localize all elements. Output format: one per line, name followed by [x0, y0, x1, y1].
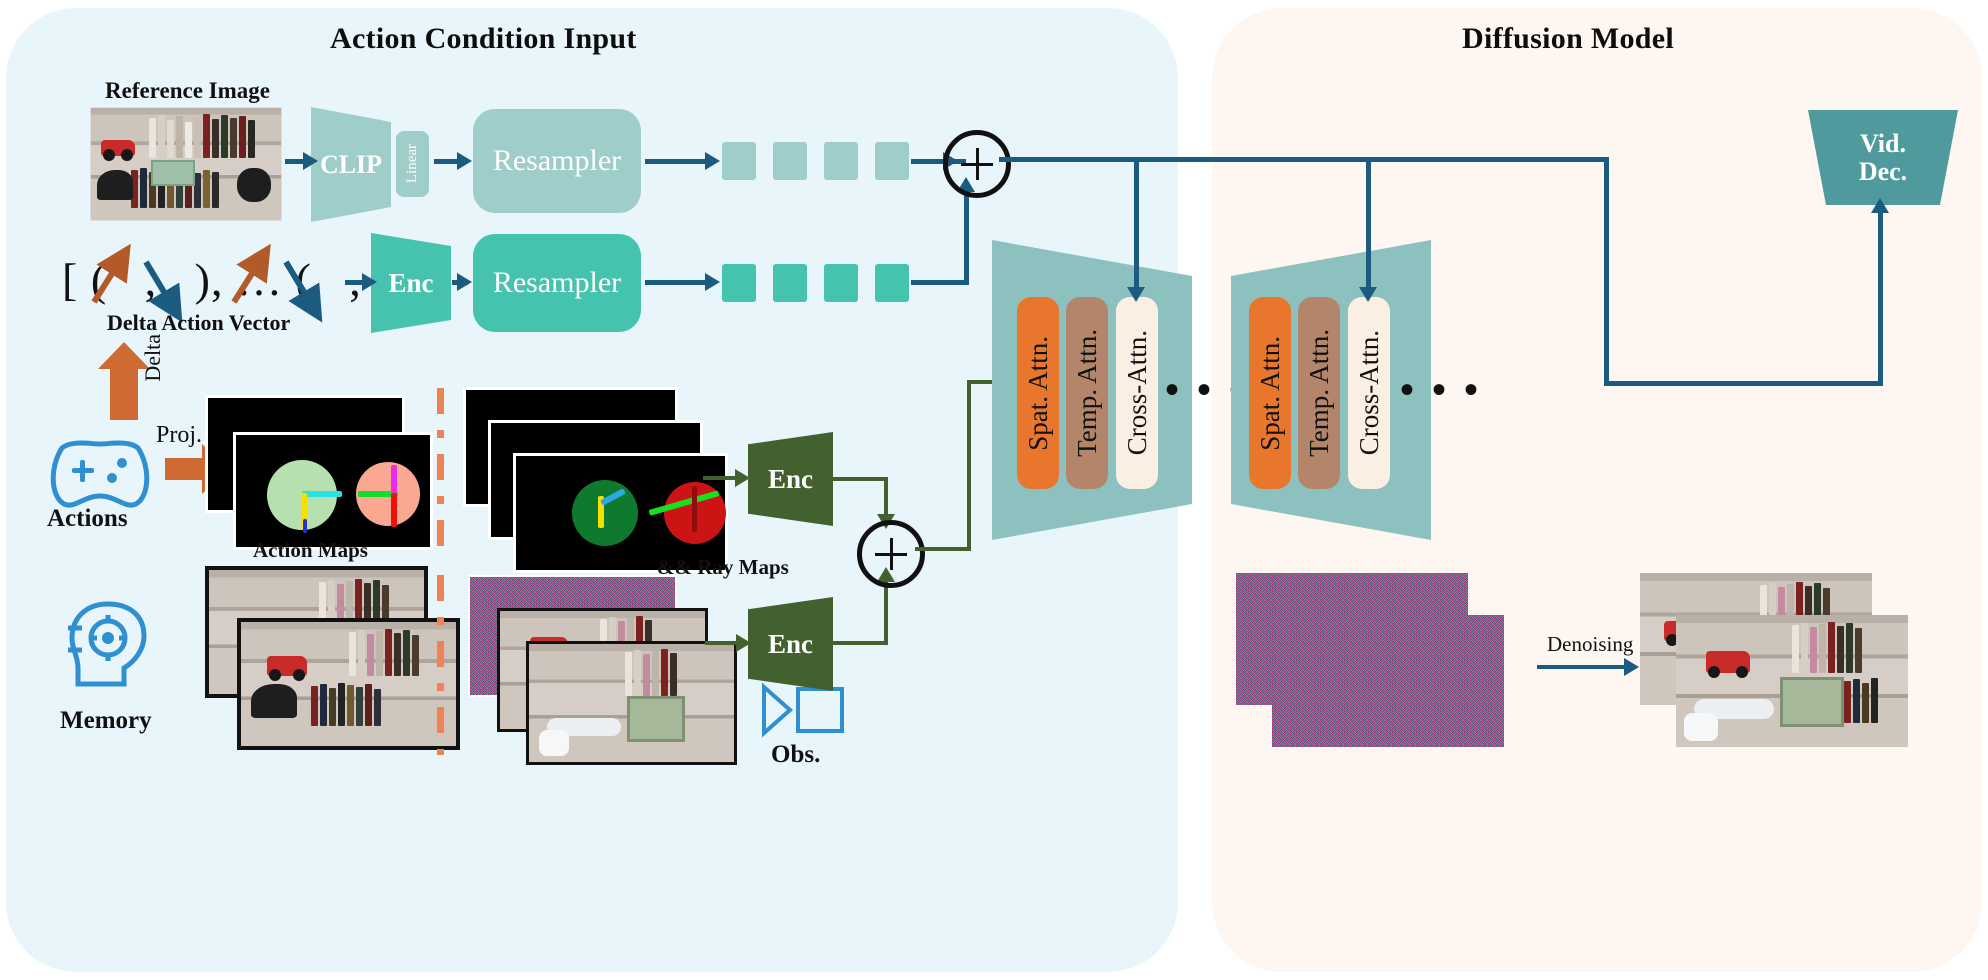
enc-raymaps-block[interactable]: Enc	[748, 432, 833, 526]
ray-magenta	[391, 465, 397, 493]
action-token	[875, 264, 909, 302]
resampler-image-block[interactable]: Resampler	[473, 109, 641, 213]
reference-image-label: Reference Image	[105, 78, 270, 104]
enc-raymaps-label: Enc	[768, 464, 813, 495]
ray-disc-green	[572, 480, 638, 546]
reference-image-photo	[90, 107, 282, 221]
diagram-canvas: Action Condition Input Reference Image	[0, 0, 1988, 980]
actions-label: Actions	[47, 505, 128, 533]
resampler-action-block[interactable]: Resampler	[473, 234, 641, 332]
arrowhead	[705, 152, 720, 170]
arrow-resampler-to-tokens	[645, 159, 711, 164]
resampler-action-label: Resampler	[493, 266, 621, 300]
cond-bus-h	[999, 157, 1607, 162]
arrow-unet-to-viddec-h	[1604, 381, 1881, 386]
spat-attn-block-down[interactable]: Spat. Attn.	[1017, 297, 1059, 489]
proj-label: Proj.	[156, 422, 202, 449]
denoise-input-front	[1272, 615, 1504, 747]
arrowhead	[1127, 287, 1145, 302]
image-token	[824, 142, 858, 180]
arrow-encobs-elbow-h	[833, 641, 888, 645]
arrow-encray-elbow-h	[833, 477, 888, 481]
arrow-actiontokens-elbow-h	[911, 280, 969, 285]
brain-memory-icon	[62, 598, 154, 694]
linear-label: Linear	[404, 144, 421, 183]
action-map-frame-front	[233, 432, 433, 550]
image-token	[875, 142, 909, 180]
action-token	[722, 264, 756, 302]
enc-action-label: Enc	[388, 268, 433, 299]
image-token	[773, 142, 807, 180]
section-divider-bottom	[437, 575, 444, 755]
cross-attn-label-down: Cross-Attn.	[1122, 330, 1153, 455]
cross-attn-label-up: Cross-Attn.	[1354, 330, 1385, 455]
temp-attn-label-up: Temp. Attn.	[1304, 329, 1335, 457]
arrow-actiontokens-elbow-v	[964, 188, 969, 285]
arrowhead	[1359, 287, 1377, 302]
obs-label: Obs.	[771, 741, 820, 769]
panel-title-left: Action Condition Input	[330, 22, 637, 56]
spat-attn-block-up[interactable]: Spat. Attn.	[1249, 297, 1291, 489]
arrowhead	[457, 273, 472, 291]
arrow-unet-to-viddec-v	[1604, 157, 1609, 385]
ray-blue	[303, 519, 307, 533]
delta-arrow-label: Delta	[140, 334, 166, 382]
cond-bus-drop-up	[1366, 157, 1371, 292]
arrowhead	[736, 634, 751, 652]
temp-attn-block-up[interactable]: Temp. Attn.	[1298, 297, 1340, 489]
proj-arrow	[165, 458, 203, 480]
sum-node-conditions	[943, 130, 1011, 198]
delta-arrow	[110, 368, 138, 420]
action-encoder-block[interactable]: Enc	[371, 233, 451, 333]
arrow-viddec-riser	[1878, 212, 1883, 386]
ray-cyan	[302, 491, 342, 497]
arrowhead	[705, 273, 720, 291]
ellipsis-up: • • •	[1400, 366, 1482, 413]
clip-label: CLIP	[320, 150, 382, 180]
spat-attn-label-up: Spat. Attn.	[1255, 336, 1286, 451]
action-token	[773, 264, 807, 302]
temp-attn-label-down: Temp. Attn.	[1072, 329, 1103, 457]
section-divider-top	[437, 388, 444, 558]
memory-label: Memory	[60, 707, 152, 735]
cross-attn-block-up[interactable]: Cross-Attn.	[1348, 297, 1390, 489]
cond-bus-drop-down	[1134, 157, 1139, 292]
memory-photo-front	[237, 618, 460, 750]
enc-obs-block[interactable]: Enc	[748, 597, 833, 691]
arrowhead	[1871, 198, 1889, 213]
image-token	[722, 142, 756, 180]
arrow-resampler2-to-tokens	[645, 280, 711, 285]
ray-darkred	[692, 486, 697, 532]
enc-obs-label: Enc	[768, 629, 813, 660]
temp-attn-block-down[interactable]: Temp. Attn.	[1066, 297, 1108, 489]
resampler-image-label: Resampler	[493, 144, 621, 178]
delta-action-vector-label: Delta Action Vector	[107, 310, 290, 336]
arrow-denoising-line	[1537, 665, 1631, 669]
denoising-label: Denoising	[1547, 632, 1633, 657]
vid-dec-label-line2: Dec.	[1859, 158, 1907, 185]
clip-encoder-block[interactable]: CLIP	[311, 107, 391, 222]
arrow-sum2-to-unet-v	[967, 380, 971, 550]
panel-title-right: Diffusion Model	[1462, 22, 1674, 56]
ray-red	[391, 493, 397, 527]
obs-photo-front	[526, 641, 737, 765]
arrowhead	[362, 273, 377, 291]
action-maps-label: Action Maps	[253, 538, 368, 563]
linear-block[interactable]: Linear	[396, 131, 429, 197]
arrowhead	[457, 152, 472, 170]
camera-icon	[760, 683, 846, 737]
video-decoder-block[interactable]: Vid. Dec.	[1808, 110, 1958, 205]
arrowhead	[303, 152, 318, 170]
arrowhead	[735, 469, 750, 487]
arrowhead	[1624, 658, 1639, 676]
gamepad-icon	[48, 438, 152, 510]
cross-attn-block-down[interactable]: Cross-Attn.	[1116, 297, 1158, 489]
action-token	[824, 264, 858, 302]
spat-attn-label-down: Spat. Attn.	[1023, 336, 1054, 451]
sum-node-latents	[857, 520, 925, 588]
denoise-output-front	[1676, 615, 1908, 747]
arrow-sum2-to-unet-h1	[915, 547, 971, 551]
vid-dec-label-line1: Vid.	[1860, 130, 1906, 157]
